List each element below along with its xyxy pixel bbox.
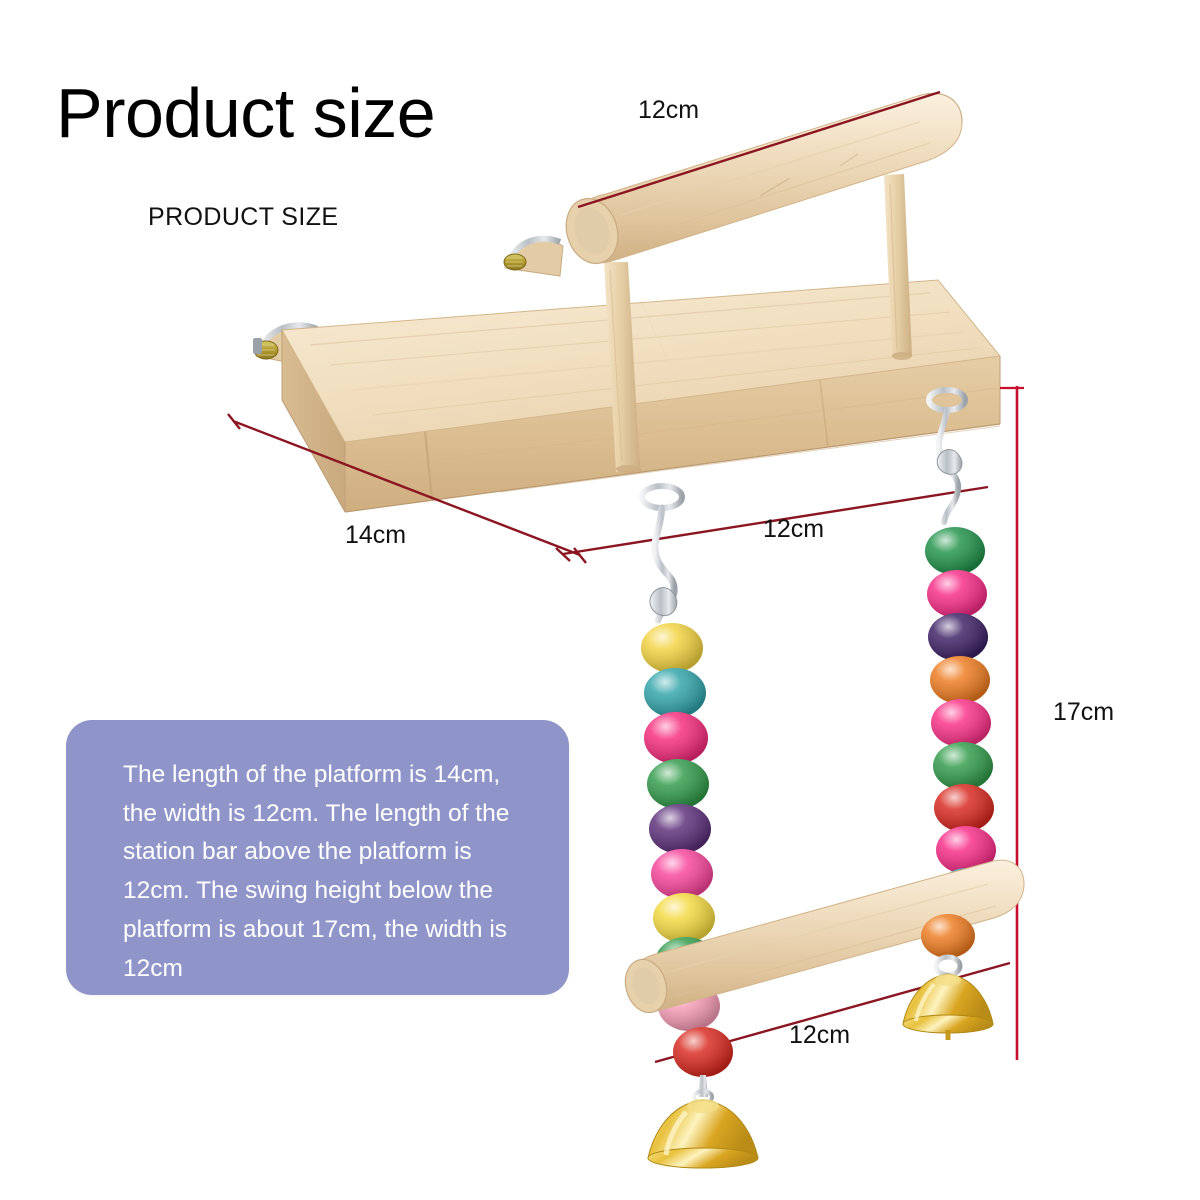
dimension-label-platform-width: 12cm xyxy=(763,515,824,544)
bead xyxy=(928,613,988,661)
mounting-bracket-rear xyxy=(504,239,563,276)
description-text: The length of the platform is 14cm, the … xyxy=(123,756,533,988)
bead xyxy=(644,712,708,764)
dimension-label-swing-bar-length: 12cm xyxy=(789,1021,850,1050)
bead xyxy=(647,759,709,809)
bead xyxy=(649,804,711,854)
bead xyxy=(927,570,987,618)
right-bead-chain xyxy=(925,527,997,916)
bead xyxy=(925,527,985,575)
bead xyxy=(644,668,706,718)
bead xyxy=(933,742,993,790)
dimension-label-perch-bar-length: 12cm xyxy=(638,96,699,125)
bead xyxy=(931,699,991,747)
product-illustration xyxy=(0,0,1200,1200)
bead xyxy=(653,893,715,943)
bead xyxy=(921,914,975,958)
left-hanger-hardware xyxy=(642,486,682,620)
description-callout: The length of the platform is 14cm, the … xyxy=(66,720,569,995)
left-bell-assembly xyxy=(648,1027,758,1168)
dimension-label-swing-height: 17cm xyxy=(1053,698,1114,727)
right-hanger-hardware xyxy=(929,390,965,522)
bead xyxy=(651,849,713,899)
dimension-line-swing-height xyxy=(1000,386,1024,1060)
dimension-label-platform-length: 14cm xyxy=(345,521,406,550)
bead xyxy=(673,1027,733,1077)
bead xyxy=(641,623,703,673)
bead xyxy=(930,656,990,704)
bead xyxy=(934,784,994,832)
infographic-canvas: Product size PRODUCT SIZE xyxy=(0,0,1200,1200)
